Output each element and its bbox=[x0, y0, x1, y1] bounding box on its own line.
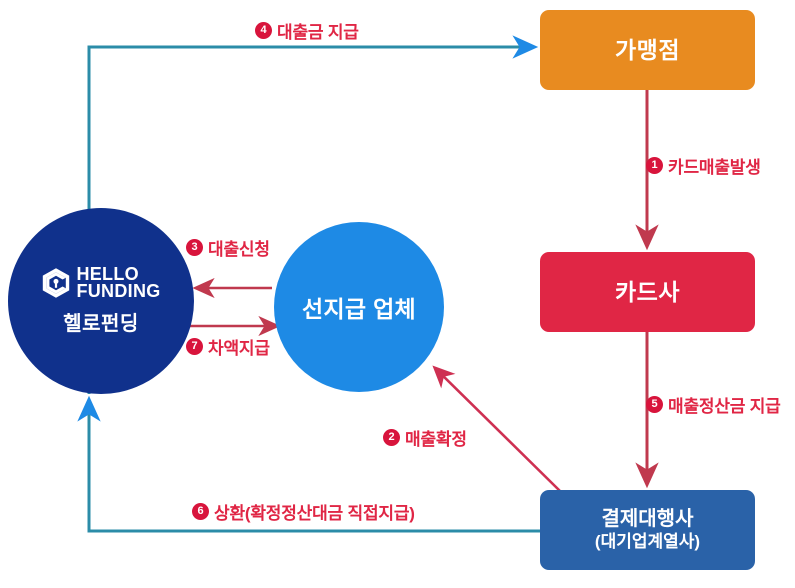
step-text-6: 상환(확정정산대금 직접지급) bbox=[214, 499, 415, 524]
flow-diagram-canvas: 가맹점 카드사 결제대행사 (대기업계열사) HELLO FUNDING 헬로펀… bbox=[0, 0, 795, 588]
step-badge-4: 4 bbox=[255, 22, 272, 39]
hello-funding-logo: HELLO FUNDING bbox=[41, 266, 160, 301]
step-label-5: 5 매출정산금 지급 bbox=[646, 392, 781, 417]
step-badge-3: 3 bbox=[186, 239, 203, 256]
node-card-company[interactable]: 카드사 bbox=[540, 252, 755, 332]
step-text-7: 차액지급 bbox=[208, 334, 270, 359]
node-prepay-company[interactable]: 선지급 업체 bbox=[274, 222, 444, 392]
node-prepay-company-label: 선지급 업체 bbox=[302, 290, 416, 324]
step-text-4: 대출금 지급 bbox=[277, 18, 359, 43]
node-merchant-label: 가맹점 bbox=[615, 36, 680, 64]
node-pg-company[interactable]: 결제대행사 (대기업계열사) bbox=[540, 490, 755, 570]
hexagon-lock-icon bbox=[41, 267, 71, 299]
hello-funding-korean-name: 헬로펀딩 bbox=[63, 307, 139, 336]
hello-funding-wordmark-line2: FUNDING bbox=[76, 283, 160, 300]
node-pg-company-sublabel: (대기업계열사) bbox=[595, 532, 700, 553]
step-label-3: 3 대출신청 bbox=[186, 235, 270, 260]
step-badge-7: 7 bbox=[186, 338, 203, 355]
step-label-7: 7 차액지급 bbox=[186, 334, 270, 359]
node-card-company-label: 카드사 bbox=[615, 278, 680, 306]
node-merchant[interactable]: 가맹점 bbox=[540, 10, 755, 90]
step-label-4: 4 대출금 지급 bbox=[255, 18, 359, 43]
step-badge-6: 6 bbox=[192, 503, 209, 520]
step-badge-2: 2 bbox=[383, 429, 400, 446]
step-text-5: 매출정산금 지급 bbox=[668, 392, 781, 417]
node-pg-company-text: 결제대행사 (대기업계열사) bbox=[595, 507, 700, 552]
step-badge-1: 1 bbox=[646, 157, 663, 174]
hello-funding-wordmark: HELLO FUNDING bbox=[76, 266, 160, 301]
step-label-6: 6 상환(확정정산대금 직접지급) bbox=[192, 499, 415, 524]
node-hello-funding[interactable]: HELLO FUNDING 헬로펀딩 bbox=[8, 208, 194, 394]
step-label-1: 1 카드매출발생 bbox=[646, 153, 761, 178]
step-text-3: 대출신청 bbox=[208, 235, 270, 260]
step-text-2: 매출확정 bbox=[405, 425, 467, 450]
step-text-1: 카드매출발생 bbox=[668, 153, 761, 178]
step-badge-5: 5 bbox=[646, 396, 663, 413]
step-label-2: 2 매출확정 bbox=[383, 425, 467, 450]
node-pg-company-label: 결제대행사 bbox=[601, 508, 693, 530]
